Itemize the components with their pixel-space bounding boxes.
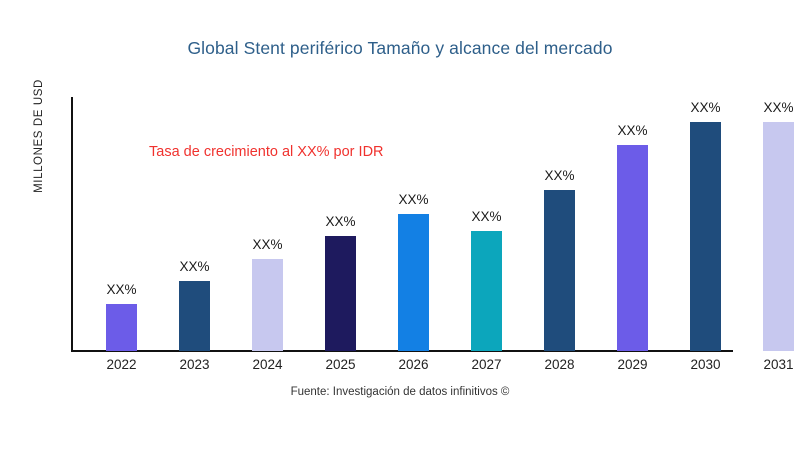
plot-area: XX%2022XX%2023XX%2024XX%2025XX%2026XX%20…	[0, 0, 800, 450]
x-tick-label-2030: 2030	[671, 357, 741, 372]
bar-value-label-2025: XX%	[306, 214, 376, 229]
bar-2027	[471, 231, 502, 351]
bar-2030	[690, 122, 721, 351]
x-tick-label-2024: 2024	[233, 357, 303, 372]
chart-figure: Global Stent periférico Tamaño y alcance…	[0, 0, 800, 450]
bar-value-label-2027: XX%	[452, 209, 522, 224]
x-tick-label-2026: 2026	[379, 357, 449, 372]
x-tick-label-2027: 2027	[452, 357, 522, 372]
bar-2031	[763, 122, 794, 351]
bar-value-label-2022: XX%	[87, 282, 157, 297]
bar-2022	[106, 304, 137, 351]
bar-2024	[252, 259, 283, 351]
bar-2025	[325, 236, 356, 351]
x-tick-label-2022: 2022	[87, 357, 157, 372]
bar-2023	[179, 281, 210, 351]
bar-value-label-2029: XX%	[598, 123, 668, 138]
bar-value-label-2023: XX%	[160, 259, 230, 274]
bar-value-label-2030: XX%	[671, 100, 741, 115]
x-tick-label-2023: 2023	[160, 357, 230, 372]
x-tick-label-2028: 2028	[525, 357, 595, 372]
x-tick-label-2029: 2029	[598, 357, 668, 372]
x-tick-label-2031: 2031	[744, 357, 800, 372]
bar-value-label-2024: XX%	[233, 237, 303, 252]
bar-value-label-2028: XX%	[525, 168, 595, 183]
x-tick-label-2025: 2025	[306, 357, 376, 372]
bar-value-label-2026: XX%	[379, 192, 449, 207]
bar-value-label-2031: XX%	[744, 100, 800, 115]
bar-2026	[398, 214, 429, 351]
source-caption: Fuente: Investigación de datos infinitiv…	[0, 386, 800, 398]
bar-2029	[617, 145, 648, 351]
bar-2028	[544, 190, 575, 351]
